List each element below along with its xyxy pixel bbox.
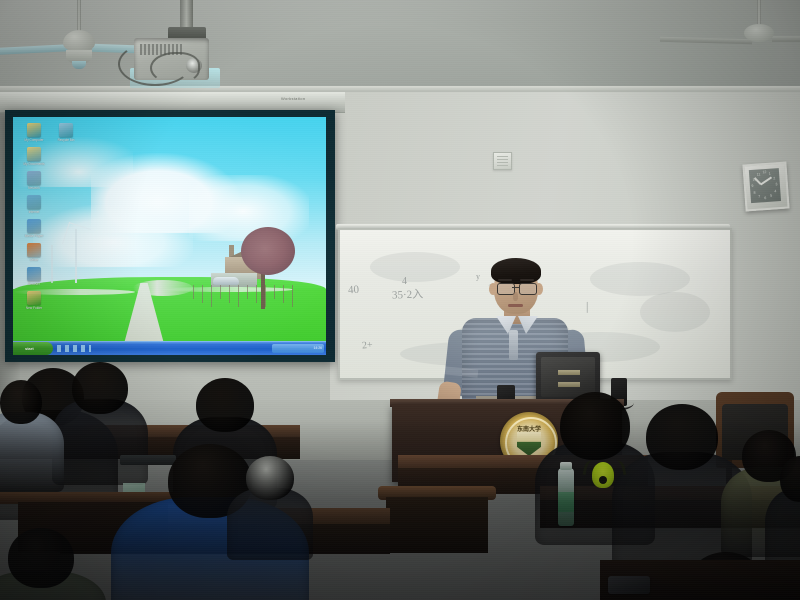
- student-white-shirt-body: [0, 412, 64, 492]
- desktop-icon-glyph: [27, 243, 41, 257]
- clock-hour-mark: 6: [764, 196, 766, 200]
- wallpaper-cloud: [189, 175, 309, 241]
- clock-hour-mark: 7: [758, 195, 760, 199]
- desktop-icon[interactable]: Office: [19, 243, 49, 262]
- desktop-icon-glyph: [27, 291, 41, 305]
- whiteboard-note: │: [584, 302, 590, 312]
- wall-clock: 121234567891011: [742, 162, 789, 212]
- presenter-eyebrow: [520, 279, 534, 281]
- desktop-icon-glyph: [27, 171, 41, 185]
- desktop-icon-label: Browser: [19, 282, 49, 286]
- screen-brand-label: Workstation: [281, 96, 305, 101]
- desktop-icon-label: New Folder: [19, 306, 49, 310]
- clock-hour-mark: 11: [756, 172, 760, 176]
- emblem-chinese-text: 东南大学: [500, 424, 558, 433]
- desktop-icon-label: Network: [19, 186, 49, 190]
- student-back-row-left-head: [72, 362, 128, 414]
- laptop[interactable]: [120, 455, 176, 465]
- ceiling-fan-blade: [772, 36, 800, 42]
- whiteboard-erased-mark: [640, 292, 710, 332]
- taskbar[interactable]: start 14:26: [13, 341, 326, 355]
- desktop-icon-label: My Computer: [19, 138, 49, 142]
- monitor-screen: [541, 357, 595, 397]
- wall-service-box[interactable]: [493, 152, 512, 170]
- whiteboard-note: 40: [348, 284, 360, 297]
- projector-cable: [150, 52, 200, 84]
- clock-hour-mark: 12: [762, 170, 766, 174]
- desktop-icon[interactable]: Internet: [19, 195, 49, 214]
- whiteboard-erased-mark: [370, 252, 460, 282]
- desktop-icon[interactable]: New Folder: [19, 291, 49, 310]
- presenter-mouth: [508, 304, 523, 307]
- wallpaper-tree: [241, 227, 295, 275]
- clock-hour-mark: 8: [753, 190, 755, 194]
- clock-hour-mark: 9: [751, 184, 753, 188]
- eyeglasses-icon: [519, 283, 537, 295]
- student-long-hair-black-tee-head: [560, 392, 630, 460]
- projected-desktop[interactable]: My ComputerRecycle BinMy DocumentsNetwor…: [13, 117, 326, 355]
- clock-hour-mark: 10: [752, 177, 756, 181]
- desktop-icon-glyph: [59, 123, 73, 137]
- desktop-icon[interactable]: Browser: [19, 267, 49, 286]
- presenter-eyebrow: [498, 279, 512, 281]
- presenter-shirt-placket: [509, 330, 518, 360]
- chair-back: [386, 497, 488, 553]
- desktop-icon-label: Internet: [19, 210, 49, 214]
- desktop-icon[interactable]: Media Player: [19, 219, 49, 238]
- student-white-cap-head: [246, 456, 294, 500]
- desktop-icon-label: My Documents: [19, 162, 49, 166]
- system-tray[interactable]: 14:26: [272, 344, 324, 353]
- desktop-icon-glyph: [27, 219, 41, 233]
- projector-mount: [180, 0, 193, 30]
- start-button-label: start: [13, 342, 53, 355]
- desktop-icon-grid[interactable]: My ComputerRecycle BinMy DocumentsNetwor…: [15, 119, 85, 329]
- student-center-right-dark-head: [646, 404, 718, 470]
- desktop-icon[interactable]: Network: [19, 171, 49, 190]
- classroom-photo: Workstation My ComputerRecycle BinMy Doc…: [0, 0, 800, 600]
- desktop-icon-label: Media Player: [19, 234, 49, 238]
- ceiling-fan-motor: [744, 24, 774, 42]
- desktop-icon[interactable]: My Computer: [19, 123, 49, 142]
- clock-hour-mark: 2: [773, 176, 775, 180]
- student-white-shirt-head: [0, 380, 42, 424]
- presenter-nose: [513, 292, 518, 301]
- whiteboard-note: 35·2入: [392, 285, 424, 302]
- desktop-icon[interactable]: Recycle Bin: [51, 123, 81, 142]
- whiteboard-note: 2+: [362, 340, 374, 352]
- monitor-reflection: [558, 370, 580, 375]
- desktop-icon-glyph: [27, 123, 41, 137]
- wallpaper-car: [213, 277, 239, 285]
- clock-hour-mark: 4: [774, 189, 776, 193]
- ceiling-fan-rod: [77, 0, 81, 32]
- clock-text: 14:26: [272, 344, 324, 353]
- mobile-phone[interactable]: [608, 576, 650, 594]
- bottle-cap: [560, 462, 572, 470]
- desktop-icon-label: Recycle Bin: [51, 138, 81, 142]
- student-center-dark-head: [196, 378, 254, 432]
- wallpaper-house: [229, 245, 234, 257]
- tshirt-graphic-eye: [599, 476, 607, 484]
- wallpaper-fence: [193, 285, 293, 313]
- desktop-icon-label: Office: [19, 258, 49, 262]
- desktop-icon-glyph: [27, 195, 41, 209]
- whiteboard-erased-mark: [590, 262, 690, 296]
- bottle-label: [558, 492, 574, 512]
- desktop-icon-glyph: [27, 267, 41, 281]
- ceiling-fan-motor: [63, 30, 95, 52]
- clock-hour-mark: 5: [770, 194, 772, 198]
- quick-launch-bar[interactable]: [57, 345, 91, 352]
- student-foreground-left-head: [8, 528, 74, 588]
- desktop-icon[interactable]: My Documents: [19, 147, 49, 166]
- ceiling-fan-rod: [757, 0, 761, 26]
- clock-hour-mark: 3: [775, 182, 777, 186]
- desktop-icon-glyph: [27, 147, 41, 161]
- tshirt-alien-graphic: [592, 462, 614, 488]
- presenter-ear: [489, 283, 497, 295]
- clock-hour-mark: 1: [768, 171, 770, 175]
- whiteboard-note: y: [476, 272, 480, 281]
- monitor-reflection: [558, 382, 580, 387]
- eyeglasses-bridge: [512, 287, 520, 288]
- start-button[interactable]: start: [13, 342, 53, 355]
